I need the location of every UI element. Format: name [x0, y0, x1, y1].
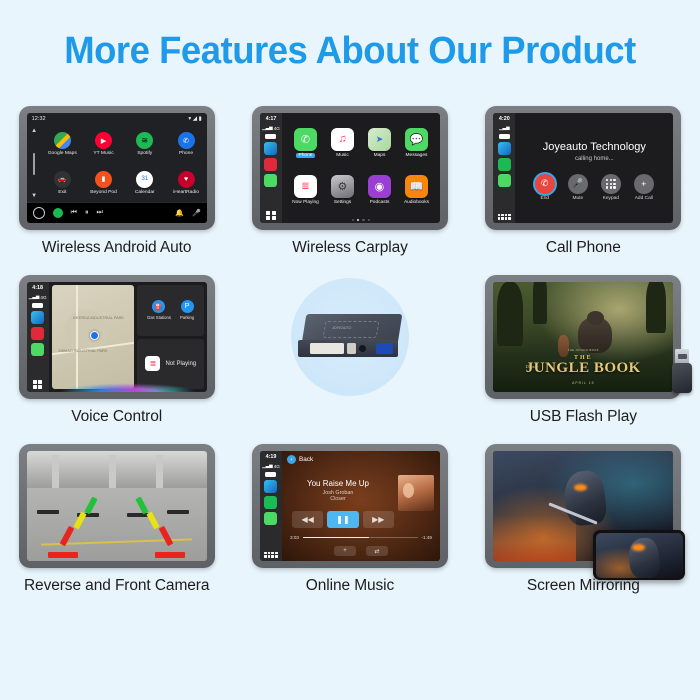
app-label: Calendar — [135, 190, 155, 195]
feature-card-reverse-and-front-camera[interactable]: Reverse and Front Camera — [7, 444, 227, 595]
usb-video-screen: THE JUNGLE BOOK Disney THE JUNGLE BOOK A… — [493, 282, 673, 392]
iheartradio-icon[interactable] — [264, 158, 277, 171]
app-phone[interactable]: ✆ Phone — [165, 125, 206, 164]
beyondpod-icon: ▮ — [95, 171, 112, 188]
spotify-icon[interactable] — [53, 208, 63, 218]
iheartradio-icon[interactable] — [31, 327, 44, 340]
map-label: KE'ERDA INDUSTRIAL PARK — [73, 316, 124, 321]
app-maps[interactable]: ➤ Maps — [361, 119, 398, 167]
now-playing-icon: ≣ — [294, 175, 317, 198]
spotify-icon[interactable] — [264, 496, 277, 509]
track-album: Closer — [282, 496, 394, 502]
signal-icons: ▾ ◢ ▮ — [188, 116, 201, 122]
button-label: Mute — [572, 196, 583, 201]
back-button[interactable]: ‹ Back — [287, 455, 313, 464]
poster-title: THE JUNGLE BOOK — [493, 355, 673, 376]
mic-icon[interactable]: 🎤 — [192, 209, 201, 217]
mute-icon: 🎤 — [568, 174, 588, 194]
app-settings[interactable]: ⚙ Settings — [324, 167, 361, 215]
app-label: YT Music — [93, 151, 113, 156]
call-controls: ✆ End 🎤 Mute Keypad — [535, 174, 654, 202]
app-label: Audiobooks — [404, 200, 429, 205]
feature-caption: Wireless Carplay — [292, 239, 408, 257]
battery-icon — [499, 134, 510, 139]
app-label: Phone — [296, 153, 315, 158]
end-call-icon: ✆ — [535, 174, 555, 194]
add-call-button[interactable]: + Add Call — [634, 174, 654, 202]
head-unit-bezel: THE JUNGLE BOOK Disney THE JUNGLE BOOK A… — [485, 275, 681, 399]
product-brand-label: JOYEAUTO — [332, 326, 352, 330]
phone-icon: ✆ — [178, 132, 195, 149]
carplay-sidebar[interactable]: 4:18 ▁▃▅ 4G — [27, 282, 49, 392]
scroll-rail[interactable]: ▲ ▼ — [27, 125, 42, 202]
feature-row-2: 4:18 ▁▃▅ 4G KE'ERDA — [0, 275, 700, 426]
feature-caption: USB Flash Play — [530, 408, 637, 426]
poi-label: Gas Stations — [147, 315, 171, 320]
youtube-music-icon: ▶ — [95, 132, 112, 149]
media-bar[interactable]: ⏮ ⏸ ⏭ 🔔 🎤 — [27, 202, 207, 223]
feature-showcase-page: More Features About Our Product 12:32 ▾ … — [0, 0, 700, 700]
carplay-sidebar[interactable]: 4:17 ▁▃▅ 4G — [260, 113, 282, 223]
app-phone[interactable]: ✆ Phone — [287, 119, 324, 167]
home-icon[interactable] — [33, 207, 45, 219]
head-unit-bezel — [19, 444, 215, 568]
add-icon[interactable]: + — [334, 546, 356, 556]
next-icon[interactable]: ⏭ — [96, 209, 102, 217]
status-bar: 12:32 ▾ ◢ ▮ — [27, 113, 207, 125]
app-yt-music[interactable]: ▶ YT Music — [83, 125, 124, 164]
now-playing-icon: ≣ — [145, 356, 160, 371]
city-background — [493, 515, 576, 561]
battery-icon — [265, 134, 276, 139]
button-label: Keypad — [603, 196, 619, 201]
app-grid-icon[interactable] — [266, 211, 275, 220]
shuffle-icon[interactable]: ⇄ — [366, 546, 388, 556]
player-background: ‹ Back You Raise Me Up Josh Groban Close… — [282, 451, 440, 561]
call-status: calling home... — [575, 156, 614, 162]
podcasts-icon: ◉ — [368, 175, 391, 198]
phone-icon[interactable] — [498, 174, 511, 187]
feature-card-usb-flash-play[interactable]: THE JUNGLE BOOK Disney THE JUNGLE BOOK A… — [473, 275, 693, 426]
back-icon: ‹ — [287, 455, 296, 464]
music-player-screen: 4:19 ▁▃▅ 4G ‹ Bac — [260, 451, 440, 561]
android-auto-body: ▲ ▼ Google Maps ▶ — [27, 125, 207, 202]
app-beyond-pod[interactable]: ▮ Beyond Pod — [83, 164, 124, 203]
clock: 4:18 — [32, 285, 43, 291]
voice-control-screen: 4:18 ▁▃▅ 4G KE'ERDA — [27, 282, 207, 392]
feature-caption: Reverse and Front Camera — [24, 577, 209, 595]
app-podcasts[interactable]: ◉ Podcasts — [361, 167, 398, 215]
guide-line-red-bottom-right — [155, 552, 185, 558]
mute-button[interactable]: 🎤 Mute — [568, 174, 588, 202]
phone-icon[interactable] — [264, 512, 277, 525]
scroll-thumb[interactable] — [33, 153, 35, 175]
fast-forward-icon[interactable]: ▶▶ — [363, 511, 394, 528]
calendar-icon: 31 — [136, 171, 153, 188]
app-music[interactable]: ♫ Music — [324, 119, 361, 167]
product-hero: JOYEAUTO — [252, 275, 448, 399]
playback-controls: ◀◀ ❚❚ ▶▶ — [292, 511, 394, 528]
button-label: Add Call — [635, 196, 653, 201]
usb-flash-drive-icon — [669, 347, 695, 393]
app-label: Exit — [58, 190, 66, 195]
rear-camera-screen — [27, 451, 207, 561]
head-unit-bezel: 4:19 ▁▃▅ 4G ‹ Bac — [252, 444, 448, 568]
android-auto-screen: 12:32 ▾ ◢ ▮ ▲ ▼ — [27, 113, 207, 223]
waze-icon[interactable] — [498, 142, 511, 155]
gas-station-icon: ⛽ — [152, 300, 165, 313]
app-now-playing[interactable]: ≣ Now Playing — [287, 167, 324, 215]
track-metadata: You Raise Me Up Josh Groban Closer — [282, 479, 394, 502]
app-label: Maps — [374, 153, 386, 158]
phone-icon[interactable] — [31, 343, 44, 356]
chevron-up-icon[interactable]: ▲ — [31, 128, 37, 134]
phone-icon[interactable] — [264, 174, 277, 187]
current-location-icon — [90, 331, 99, 340]
remaining-time: -1:49 — [422, 535, 432, 540]
end-call-button[interactable]: ✆ End — [535, 174, 555, 202]
jungle-book-poster: THE JUNGLE BOOK Disney THE JUNGLE BOOK A… — [493, 282, 673, 392]
network-status: ▁▃▅ 4G — [262, 463, 280, 469]
player-panel: ‹ Back You Raise Me Up Josh Groban Close… — [282, 451, 440, 561]
app-label: Google Maps — [48, 151, 77, 156]
feature-caption: Online Music — [306, 577, 394, 595]
poi-gas-stations[interactable]: ⛽ Gas Stations — [147, 300, 171, 320]
carplay-home: ✆ Phone ♫ Music ➤ Maps — [282, 113, 440, 223]
app-grid: ✆ Phone ♫ Music ➤ Maps — [282, 113, 440, 223]
app-grid-icon[interactable] — [264, 552, 277, 558]
head-unit-bezel — [485, 444, 681, 568]
camera-feed — [27, 451, 207, 561]
carplay-screen: 4:17 ▁▃▅ 4G ✆ Pho — [260, 113, 440, 223]
feature-caption: Wireless Android Auto — [42, 239, 192, 257]
app-messages[interactable]: 💬 Messages — [398, 119, 435, 167]
previous-icon[interactable]: ⏮ — [71, 209, 77, 217]
feature-card-wireless-android-auto[interactable]: 12:32 ▾ ◢ ▮ ▲ ▼ — [7, 106, 227, 257]
poi-parking[interactable]: P Parking — [180, 300, 194, 320]
page-title: More Features About Our Product — [14, 30, 686, 73]
back-label: Back — [299, 456, 313, 463]
app-label: Settings — [334, 200, 351, 205]
app-iheartradio[interactable]: ♥ iHeartRadio — [165, 164, 206, 203]
app-label: Podcasts — [370, 200, 390, 205]
app-audiobooks[interactable]: 📖 Audiobooks — [398, 167, 435, 215]
app-label: iHeartRadio — [173, 190, 199, 195]
network-status: ▁▃▅ 4G — [29, 294, 47, 300]
maps-icon: ➤ — [368, 128, 391, 151]
harness-connector — [310, 343, 344, 354]
footer-controls: + ⇄ — [282, 546, 440, 556]
pause-icon[interactable]: ❚❚ — [327, 511, 358, 528]
usb-body — [672, 363, 692, 393]
app-label: Beyond Pod — [90, 190, 117, 195]
carplay-sidebar[interactable]: 4:19 ▁▃▅ 4G — [260, 451, 282, 561]
clock: 4:19 — [266, 454, 277, 460]
mowgli-figure — [558, 335, 569, 357]
siri-waveform-icon — [49, 370, 207, 392]
feature-grid: 12:32 ▾ ◢ ▮ ▲ ▼ — [0, 106, 700, 595]
battery-icon — [32, 303, 43, 308]
waze-icon[interactable] — [264, 142, 277, 155]
app-label: Music — [336, 153, 349, 158]
clock: 4:20 — [499, 116, 510, 122]
elapsed-time: 3:03 — [290, 535, 299, 540]
feature-row-3: Reverse and Front Camera 4:19 ▁▃▅ 4G — [0, 444, 700, 595]
feature-card-screen-mirroring[interactable]: Screen Mirroring — [473, 444, 693, 595]
app-label: Spotify — [137, 151, 152, 156]
app-grid-icon[interactable] — [33, 380, 42, 389]
track-title: You Raise Me Up — [282, 479, 394, 488]
clock: 4:17 — [266, 116, 277, 122]
app-spotify[interactable]: ≋ Spotify — [124, 125, 165, 164]
poster-credits: THE JUNGLE BOOK — [493, 349, 673, 352]
head-unit-bezel: 4:17 ▁▃▅ 4G ✆ Pho — [252, 106, 448, 230]
feature-caption: Call Phone — [546, 239, 621, 257]
feature-row-1: 12:32 ▾ ◢ ▮ ▲ ▼ — [0, 106, 700, 257]
keypad-button[interactable]: Keypad — [601, 174, 621, 202]
page-dots[interactable] — [282, 219, 440, 221]
app-label: Messages — [406, 153, 428, 158]
interface-box-icon: JOYEAUTO — [298, 314, 402, 360]
music-icon: ♫ — [331, 128, 354, 151]
google-maps-icon — [54, 132, 71, 149]
feature-card-call-phone[interactable]: 4:20 ▁▃▅ Joyeauto Technology calling hom… — [473, 106, 693, 257]
head-unit-bezel: 12:32 ▾ ◢ ▮ ▲ ▼ — [19, 106, 215, 230]
progress-row[interactable]: 3:03 -1:49 — [290, 535, 432, 540]
carplay-sidebar[interactable]: 4:20 ▁▃▅ — [493, 113, 515, 223]
network-status: ▁▃▅ 4G — [262, 125, 280, 131]
voice-panel: KE'ERDA INDUSTRIAL PARK ZAIMAO INDUSTRIA… — [49, 282, 207, 392]
messages-icon: 💬 — [405, 128, 428, 151]
feature-card-voice-control[interactable]: 4:18 ▁▃▅ 4G KE'ERDA — [7, 275, 227, 426]
clock: 12:32 — [32, 116, 46, 122]
keypad-icon — [601, 174, 621, 194]
app-grid: Google Maps ▶ YT Music ≋ Spotify — [42, 125, 207, 202]
poi-suggestions: ⛽ Gas Stations P Parking — [137, 285, 203, 336]
rewind-icon[interactable]: ◀◀ — [292, 511, 323, 528]
phone-icon: ✆ — [294, 128, 317, 151]
car-exit-icon: 🚗 — [54, 171, 71, 188]
feature-card-wireless-carplay[interactable]: 4:17 ▁▃▅ 4G ✆ Pho — [240, 106, 460, 257]
app-label: Phone — [179, 151, 193, 156]
add-call-icon: + — [634, 174, 654, 194]
signal-icon: ▁▃▅ — [499, 125, 510, 131]
pause-icon[interactable]: ⏸ — [85, 209, 89, 217]
poster-release-date: APRIL 15 — [493, 381, 673, 385]
app-label: Now Playing — [292, 200, 319, 205]
vga-connector — [376, 343, 393, 354]
iheartradio-icon: ♥ — [178, 171, 195, 188]
settings-icon: ⚙ — [331, 175, 354, 198]
caller-name: Joyeauto Technology — [543, 141, 646, 153]
battery-icon — [265, 472, 276, 477]
bell-icon[interactable]: 🔔 — [175, 209, 184, 217]
usb-port — [347, 343, 356, 354]
bear-figure — [578, 317, 612, 353]
app-calendar[interactable]: 31 Calendar — [124, 164, 165, 203]
smartphone-icon — [593, 530, 685, 580]
call-screen: 4:20 ▁▃▅ Joyeauto Technology calling hom… — [493, 113, 673, 223]
waze-icon[interactable] — [264, 480, 277, 493]
garage-floor — [27, 488, 207, 561]
progress-bar[interactable] — [303, 537, 418, 539]
chevron-down-icon[interactable]: ▼ — [31, 193, 37, 199]
app-google-maps[interactable]: Google Maps — [42, 125, 83, 164]
poi-label: Parking — [180, 315, 194, 320]
app-grid-icon[interactable] — [498, 214, 511, 220]
feature-card-online-music[interactable]: 4:19 ▁▃▅ 4G ‹ Bac — [240, 444, 460, 595]
feature-caption: Voice Control — [71, 408, 162, 426]
now-playing-label: Not Playing — [165, 361, 196, 367]
audiobooks-icon: 📖 — [405, 175, 428, 198]
head-unit-bezel: 4:20 ▁▃▅ Joyeauto Technology calling hom… — [485, 106, 681, 230]
button-label: End — [541, 196, 550, 201]
spotify-icon: ≋ — [136, 132, 153, 149]
app-exit[interactable]: 🚗 Exit — [42, 164, 83, 203]
album-artwork — [398, 475, 434, 511]
feature-card-product-box: JOYEAUTO — [240, 275, 460, 408]
av-jack — [359, 345, 366, 352]
head-unit-bezel: 4:18 ▁▃▅ 4G KE'ERDA — [19, 275, 215, 399]
spotify-icon[interactable] — [498, 158, 511, 171]
guide-line-red-bottom-left — [48, 552, 78, 558]
parking-icon: P — [181, 300, 194, 313]
waze-icon[interactable] — [31, 311, 44, 324]
poster-title-main: JUNGLE BOOK — [493, 361, 673, 376]
map-label: ZAIMAO INDUSTRIAL PARK — [58, 349, 107, 354]
phone-screen — [596, 533, 683, 578]
progress-fill — [303, 537, 369, 539]
call-panel: Joyeauto Technology calling home... ✆ En… — [515, 113, 673, 223]
